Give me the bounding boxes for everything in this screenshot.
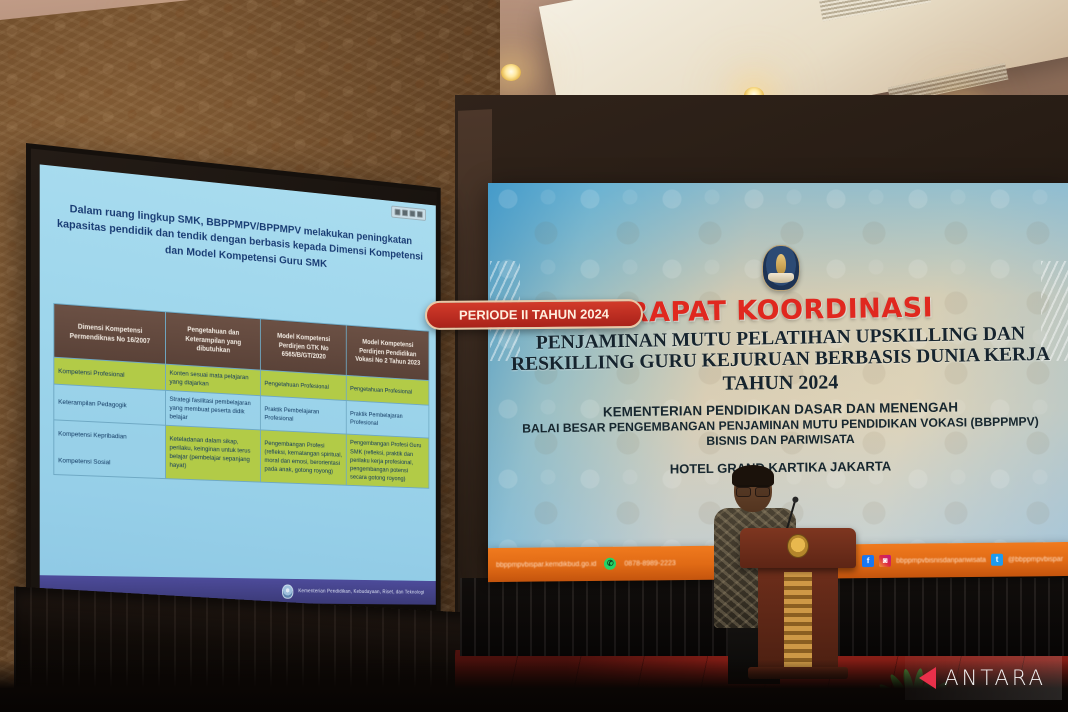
table-header-cell: Model Kompetensi Perdirjen Pendidikan Vo… xyxy=(346,325,429,380)
table-row-label: Keterampilan Pedagogik xyxy=(54,384,166,425)
projector-screen: Power Point Materi Bimtek Up R... Dalam … xyxy=(26,143,441,634)
periode-badge: PERIODE II TAHUN 2024 xyxy=(425,299,643,330)
table-cell: Praktik Pembelajaran Profesional xyxy=(260,396,346,435)
antara-arrow-icon xyxy=(919,667,936,689)
speaker-hair xyxy=(732,465,774,487)
banner-year: TAHUN 2024 xyxy=(488,369,1068,398)
competency-table: Dimensi Kompetensi Permendiknas No 16/20… xyxy=(53,303,429,489)
table-row-label-secondary: Kompetensi Sosial xyxy=(54,447,166,478)
tut-wuri-handayani-logo-icon xyxy=(762,245,800,291)
wall-edge-strip xyxy=(458,109,492,631)
table-cell: Strategi fasilitasi pembelajaran yang me… xyxy=(165,391,260,431)
table-header-cell: Model Kompetensi Perdirjen GTK No 6565/B… xyxy=(260,319,346,376)
antara-watermark: ANTARA xyxy=(905,656,1062,700)
banner-twitter-handle: @bbppmpvbispar xyxy=(1008,556,1063,564)
facebook-icon: f xyxy=(862,555,874,567)
banner-website: bbppmpvbispar.kemdikbud.go.id xyxy=(496,560,596,568)
slide-toolbar[interactable] xyxy=(391,206,426,221)
banner-social-handle: bbppmpvbisnisdanpariwisata xyxy=(896,556,986,564)
table-header-cell: Pengetahuan dan Keterampilan yang dibutu… xyxy=(165,312,260,370)
ceiling-downlight xyxy=(501,64,521,81)
podium-carving xyxy=(784,572,812,668)
table-cell: Keteladanan dalam sikap, perilaku, keing… xyxy=(165,426,260,482)
notes-icon[interactable] xyxy=(410,210,416,217)
play-icon[interactable] xyxy=(402,209,408,216)
instagram-icon: ◙ xyxy=(879,555,891,567)
slide-icon[interactable] xyxy=(395,209,401,216)
slide-footer-text: Kementerian Pendidikan, Kebudayaan, Rise… xyxy=(298,588,424,595)
antara-wordmark: ANTARA xyxy=(944,666,1046,690)
table-cell: Pengembangan Profesi Guru SMK (refleksi,… xyxy=(346,434,429,488)
fullscreen-icon[interactable] xyxy=(417,211,423,218)
presentation-slide: Power Point Materi Bimtek Up R... Dalam … xyxy=(40,164,436,604)
twitter-icon: t xyxy=(991,554,1003,566)
slide-title: Dalam ruang lingkup SMK, BBPPMPV/BPPMPV … xyxy=(55,200,424,280)
table-cell: Praktik Pembelajaran Profesional xyxy=(346,401,429,439)
garuda-emblem-icon xyxy=(787,534,809,558)
conference-room-photo: RAPAT KOORDINASI PENJAMINAN MUTU PELATIH… xyxy=(0,0,1068,712)
podium xyxy=(742,528,854,673)
banner-phone: 0878-8989-2223 xyxy=(624,560,675,568)
whatsapp-icon: ✆ xyxy=(604,558,616,570)
table-cell: Pengembangan Profesi (refleksi, kematang… xyxy=(260,430,346,485)
speaker-glasses-icon xyxy=(736,485,770,493)
tut-wuri-handayani-logo-icon xyxy=(282,584,293,598)
table-header-cell: Dimensi Kompetensi Permendiknas No 16/20… xyxy=(54,304,166,365)
